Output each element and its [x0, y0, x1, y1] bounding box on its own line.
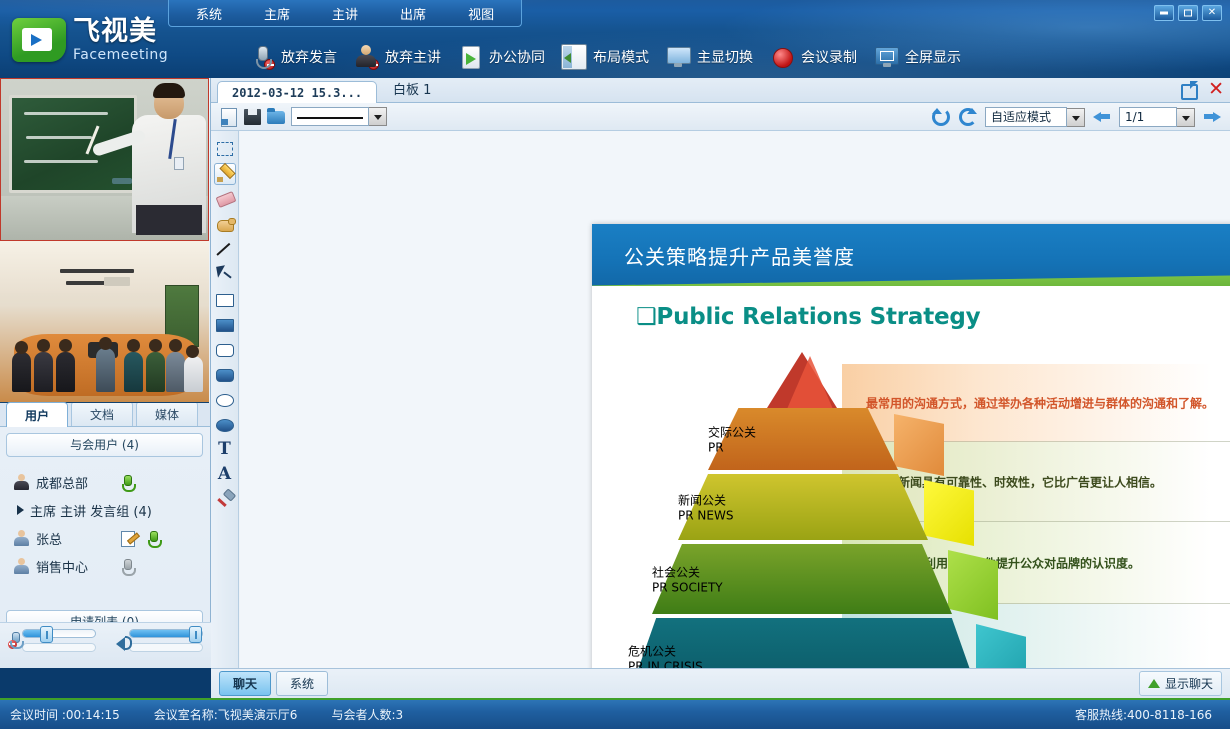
sidebar-tabs: 用户 文档 媒体 — [0, 403, 210, 427]
left-sidebar: 用户 文档 媒体 与会用户 (4) 成都总部 主席 主讲 发言组 (4) 张总 — [0, 78, 211, 668]
pyramid-diagram: 交际公关 PR 新闻公关 PR NEWS — [632, 352, 1012, 668]
rectangle-outline-tool[interactable] — [214, 288, 236, 310]
rectangle-filled-tool[interactable] — [214, 313, 236, 335]
expand-arrow-icon[interactable] — [17, 505, 24, 515]
whiteboard-tab-board1[interactable]: 白板 1 — [377, 75, 447, 102]
menu-item-system[interactable]: 系统 — [175, 0, 243, 27]
status-meeting-time: 会议时间 :00:14:15 — [10, 706, 120, 723]
toolbar-label: 布局模式 — [593, 47, 649, 67]
close-button[interactable]: ✕ — [1202, 5, 1222, 21]
logo-camera-icon — [12, 18, 66, 62]
tier-label-en: PR — [708, 441, 724, 455]
popout-icon[interactable] — [1181, 81, 1198, 98]
record-icon — [769, 44, 795, 70]
toolbar-label: 放弃发言 — [281, 47, 337, 67]
zoom-mode-value: 自适应模式 — [985, 107, 1067, 127]
microphone-muted-icon — [8, 632, 16, 649]
ellipse-filled-tool[interactable] — [214, 413, 236, 435]
user-avatar-icon — [13, 530, 30, 547]
line-tool[interactable] — [214, 238, 236, 260]
brand-name-cn: 飞视美 — [73, 18, 168, 45]
whiteboard-tab-document[interactable]: 2012-03-12 15.3... — [217, 81, 377, 103]
tier-label-en: PR NEWS — [678, 509, 733, 523]
chat-tab-chat[interactable]: 聊天 — [219, 671, 271, 696]
brand-name-en: Facemeeting — [73, 48, 168, 62]
sidebar-tab-media[interactable]: 媒体 — [136, 401, 198, 426]
show-chat-button[interactable]: 显示聊天 — [1139, 671, 1222, 696]
app-logo: 飞视美 Facemeeting — [12, 18, 168, 62]
open-icon[interactable] — [267, 107, 286, 126]
redo-icon[interactable] — [958, 107, 978, 127]
video-feed-blackboard — [1, 79, 208, 240]
pyramid-apex-highlight — [784, 356, 836, 416]
user-name: 销售中心 — [36, 557, 88, 576]
arrow-tool[interactable] — [214, 263, 236, 285]
page-indicator: 1/1 — [1119, 107, 1177, 127]
user-avatar-icon — [13, 474, 30, 491]
show-chat-label: 显示聊天 — [1165, 675, 1213, 692]
line-style-dropdown-arrow[interactable] — [369, 107, 387, 126]
list-item[interactable]: 成都总部 — [8, 468, 202, 496]
annotate-permission-icon[interactable] — [120, 530, 138, 547]
menu-item-attend[interactable]: 出席 — [379, 0, 447, 27]
tier-label-en: PR IN CRISIS — [628, 660, 703, 669]
new-icon[interactable] — [219, 107, 238, 126]
slide-title: 公关策略提升产品美誉度 — [624, 241, 855, 270]
toolbar-office-collab[interactable]: 办公协同 — [453, 42, 557, 72]
sidebar-tab-documents[interactable]: 文档 — [71, 401, 133, 426]
toolbar-layout-mode[interactable]: 布局模式 — [557, 42, 661, 72]
chat-tab-system[interactable]: 系统 — [276, 671, 328, 696]
toolbar-label: 会议录制 — [801, 47, 857, 67]
toolbar-label: 主显切换 — [697, 47, 753, 67]
next-page-icon[interactable] — [1202, 108, 1222, 126]
main-toolbar: 放弃发言 放弃主讲 办公协同 布局模式 主显切换 会议录制 — [245, 42, 973, 72]
ellipse-outline-tool[interactable] — [214, 388, 236, 410]
toolbar-label: 全屏显示 — [905, 47, 961, 67]
list-item[interactable]: 主席 主讲 发言组 (4) — [8, 496, 202, 524]
main-display-switch-icon — [665, 44, 691, 70]
user-list: 成都总部 主席 主讲 发言组 (4) 张总 销售中心 — [6, 464, 204, 604]
up-arrow-icon — [1148, 679, 1160, 688]
rounded-rectangle-filled-tool[interactable] — [214, 363, 236, 385]
video-tile-room[interactable] — [0, 241, 209, 403]
status-room-name: 会议室名称:飞视美演示厅6 — [154, 706, 298, 723]
attendees-header-button[interactable]: 与会用户 (4) — [6, 433, 203, 457]
document-share-icon — [457, 44, 483, 70]
slide-header: 公关策略提升产品美誉度 — [592, 224, 1230, 286]
pyramid-tier-1: 交际公关 PR — [708, 408, 898, 470]
user-name: 成都总部 — [36, 473, 88, 492]
pyramid-tier-2-side — [924, 480, 974, 546]
fullscreen-icon — [873, 44, 899, 70]
microphone-on-icon[interactable] — [120, 474, 134, 491]
page-dropdown-arrow[interactable] — [1177, 108, 1195, 127]
rounded-rectangle-outline-tool[interactable] — [214, 338, 236, 360]
list-item[interactable]: 张总 — [8, 524, 202, 552]
microphone-level-meter — [22, 643, 96, 652]
minimize-button[interactable] — [1154, 5, 1174, 21]
close-icon[interactable]: ✕ — [1208, 80, 1224, 99]
microphone-volume-slider[interactable] — [22, 629, 96, 638]
group-name: 主席 主讲 发言组 (4) — [30, 501, 152, 520]
whiteboard-view-controls: 自适应模式 1/1 — [931, 103, 1222, 131]
tier-label-cn: 交际公关 — [708, 426, 756, 440]
line-style-preview[interactable] — [291, 107, 369, 126]
toolbar-label: 办公协同 — [489, 47, 545, 67]
status-bar: 会议时间 :00:14:15 会议室名称:飞视美演示厅6 与会者人数:3 客服热… — [0, 698, 1230, 729]
toolbar-main-display-switch[interactable]: 主显切换 — [661, 42, 765, 72]
save-icon[interactable] — [243, 107, 262, 126]
video-feed-meeting-room — [0, 241, 209, 402]
text-tool[interactable]: T — [214, 438, 236, 460]
slide-body: ❑Public Relations Strategy 最常用的沟通方式，通过举办… — [592, 286, 1230, 668]
pyramid-tier-4: 危机公关 PR IN CRISIS — [628, 618, 980, 668]
select-marquee-tool[interactable] — [214, 138, 236, 160]
pyramid-tier-3-side — [948, 550, 998, 620]
pyramid-tier-1-side — [894, 414, 944, 476]
toolbar-give-up-presenter[interactable]: 放弃主讲 — [349, 42, 453, 72]
zoom-mode-select[interactable]: 自适应模式 — [985, 107, 1085, 127]
eraser-tool[interactable] — [214, 188, 236, 210]
chat-bar: 聊天 系统 显示聊天 — [211, 668, 1230, 698]
tier-label-cn: 危机公关 — [628, 645, 676, 659]
menu-item-presenter[interactable]: 主讲 — [311, 0, 379, 27]
whiteboard-canvas[interactable]: 公关策略提升产品美誉度 ❑Public Relations Strategy 最… — [240, 131, 1230, 668]
speaker-volume-slider[interactable] — [129, 629, 203, 638]
menu-item-chairman[interactable]: 主席 — [243, 0, 311, 27]
zoom-mode-dropdown-arrow[interactable] — [1067, 108, 1085, 127]
drawing-tools-rail: T A — [211, 131, 239, 668]
microphone-off-icon[interactable] — [120, 558, 134, 575]
speaker-level-meter — [129, 643, 203, 652]
tier-label-en: PR SOCIETY — [652, 581, 723, 595]
whiteboard-toolbar: 自适应模式 1/1 — [211, 103, 1230, 131]
restore-button[interactable] — [1178, 5, 1198, 21]
whiteboard-panel: 2012-03-12 15.3... 白板 1 ✕ 自适应模式 — [211, 78, 1230, 668]
window-controls: ✕ — [1154, 5, 1222, 21]
app-header: 飞视美 Facemeeting 系统 主席 主讲 出席 视图 ✕ 放弃发言 放弃… — [0, 0, 1230, 78]
tier-label-cn: 社会公关 — [652, 566, 700, 580]
prev-page-icon[interactable] — [1092, 108, 1112, 126]
menu-item-view[interactable]: 视图 — [447, 0, 515, 27]
volume-controls — [0, 622, 211, 668]
sidebar-tab-users[interactable]: 用户 — [6, 402, 68, 427]
slide-subtitle: ❑Public Relations Strategy — [636, 304, 980, 330]
eyedropper-tool[interactable] — [214, 488, 236, 510]
user-name: 张总 — [36, 529, 62, 548]
pyramid-tier-2: 新闻公关 PR NEWS — [678, 474, 928, 540]
hand-pointer-tool[interactable] — [214, 213, 236, 235]
status-attendee-count: 与会者人数:3 — [331, 706, 403, 723]
video-tile-presenter[interactable] — [0, 78, 209, 241]
microphone-on-icon[interactable] — [146, 530, 160, 547]
toolbar-fullscreen[interactable]: 全屏显示 — [869, 42, 973, 72]
application-window: 飞视美 Facemeeting 系统 主席 主讲 出席 视图 ✕ 放弃发言 放弃… — [0, 0, 1230, 729]
speaker-icon — [116, 634, 124, 648]
toolbar-record[interactable]: 会议录制 — [765, 42, 869, 72]
user-avatar-icon — [13, 558, 30, 575]
pencil-tool[interactable] — [214, 163, 236, 185]
toolbar-label: 放弃主讲 — [385, 47, 441, 67]
slide-page: 公关策略提升产品美誉度 ❑Public Relations Strategy 最… — [592, 224, 1230, 668]
microphone-disabled-icon — [249, 44, 275, 70]
tier-label-cn: 新闻公关 — [678, 494, 726, 508]
whiteboard-tab-bar: 2012-03-12 15.3... 白板 1 ✕ — [211, 78, 1230, 103]
pyramid-tier-3: 社会公关 PR SOCIETY — [652, 544, 952, 614]
font-tool[interactable]: A — [214, 463, 236, 485]
menu-bar: 系统 主席 主讲 出席 视图 — [168, 0, 522, 27]
status-hotline: 客服热线:400-8118-166 — [1075, 706, 1212, 723]
layout-mode-icon — [561, 44, 587, 70]
toolbar-give-up-speech[interactable]: 放弃发言 — [245, 42, 349, 72]
presenter-disabled-icon — [353, 44, 379, 70]
undo-icon[interactable] — [931, 107, 951, 127]
list-item[interactable]: 销售中心 — [8, 552, 202, 580]
